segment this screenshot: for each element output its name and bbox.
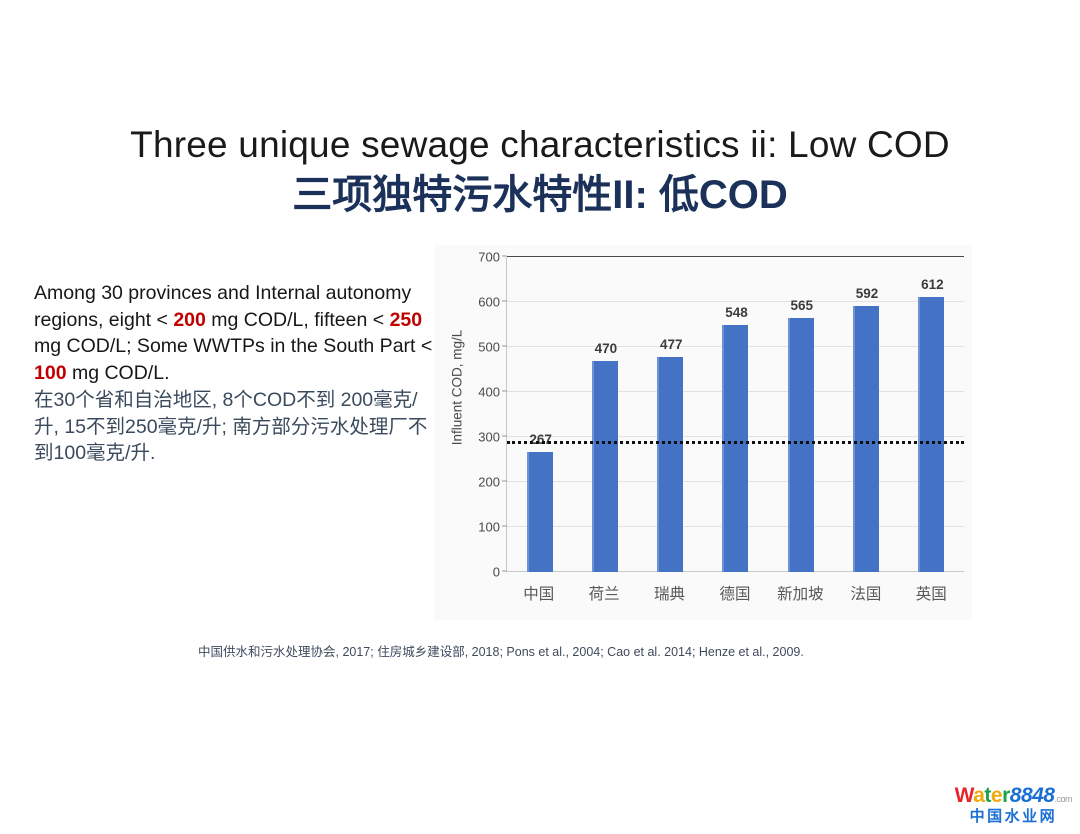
chart-x-category-label: 法国 [833, 582, 898, 604]
page-title-chinese: 三项独特污水特性II: 低COD [0, 170, 1080, 220]
watermark-letter-w: W [955, 784, 974, 807]
chart-y-tick-label: 700 [478, 250, 500, 265]
chart-x-category-label: 中国 [506, 582, 571, 604]
chart-bar-slot: 612 [899, 257, 964, 572]
chart-bar-value-label: 470 [595, 341, 618, 356]
chart-bar[interactable]: 477 [657, 357, 683, 572]
watermark-letter-a: a [973, 784, 984, 807]
chart-plot-area: 0100200300400500600700 26747047754856559… [506, 257, 964, 572]
watermark-letter-r: r [1002, 784, 1010, 807]
chart-bar-value-label: 565 [791, 298, 814, 313]
watermark-tld: .com [1054, 794, 1072, 804]
citation-text: 中国供水和污水处理协会, 2017; 住房城乡建设部, 2018; Pons e… [198, 641, 804, 660]
chart-x-category-label: 英国 [899, 582, 964, 604]
chart-y-tick-label: 300 [478, 430, 500, 445]
body-en-part-2: mg COD/L, fifteen < [206, 309, 390, 331]
chart-reference-line [507, 441, 964, 444]
chart-bar-slot: 565 [768, 257, 833, 572]
chart-x-category-label: 荷兰 [571, 582, 636, 604]
watermark-number: 8848 [1010, 784, 1055, 807]
chart-y-tick-label: 200 [478, 475, 500, 490]
chart-bar[interactable]: 612 [918, 297, 944, 572]
page-title-english: Three unique sewage characteristics ii: … [0, 122, 1080, 168]
body-paragraph-chinese: 在30个省和自治地区, 8个COD不到 200毫克/升, 15不到250毫克/升… [34, 387, 434, 467]
chart-x-category-label: 瑞典 [637, 582, 702, 604]
chart-bar-slot: 470 [572, 257, 637, 572]
chart-plot-wrapper: 0100200300400500600700 26747047754856559… [506, 257, 964, 572]
watermark-letter-e: e [991, 784, 1002, 807]
body-en-highlight-100: 100 [34, 362, 67, 384]
chart-y-tick-label: 500 [478, 340, 500, 355]
chart-bar-value-label: 477 [660, 337, 683, 352]
body-en-part-4: mg COD/L. [67, 362, 170, 384]
chart-bar-value-label: 592 [856, 286, 879, 301]
body-text-block: Among 30 provinces and Internal autonomy… [34, 280, 434, 467]
chart-bar-slot: 267 [507, 257, 572, 572]
chart-y-tick-label: 0 [493, 565, 500, 580]
chart-bar-slot: 548 [703, 257, 768, 572]
chart-bar[interactable]: 267 [527, 452, 553, 572]
chart-bars: 267470477548565592612 [507, 257, 964, 572]
chart-x-axis-labels: 中国荷兰瑞典德国新加坡法国英国 [506, 578, 964, 608]
chart-bar[interactable]: 565 [788, 318, 814, 572]
watermark-subtitle: 中国水业网 [955, 809, 1072, 824]
body-en-part-3: mg COD/L; Some WWTPs in the South Part < [34, 335, 432, 357]
slide-title-block: Three unique sewage characteristics ii: … [0, 122, 1080, 220]
chart-bar-slot: 477 [638, 257, 703, 572]
chart-y-axis-title: Influent COD, mg/L [450, 303, 465, 473]
chart-bar[interactable]: 548 [722, 325, 748, 572]
chart-bar-slot: 592 [833, 257, 898, 572]
chart-bar[interactable]: 592 [853, 306, 879, 572]
body-paragraph-english: Among 30 provinces and Internal autonomy… [34, 280, 434, 386]
chart-y-tick-label: 100 [478, 520, 500, 535]
chart-bar-value-label: 612 [921, 277, 944, 292]
body-en-highlight-250: 250 [390, 309, 423, 331]
watermark-wordmark: Water8848.com [955, 785, 1072, 806]
watermark-logo: Water8848.com 中国水业网 [955, 785, 1072, 824]
influent-cod-bar-chart: Influent COD, mg/L 010020030040050060070… [434, 245, 972, 620]
chart-bar-value-label: 267 [529, 432, 552, 447]
chart-bar[interactable]: 470 [592, 361, 618, 573]
chart-x-category-label: 新加坡 [768, 582, 833, 604]
chart-y-tick-label: 400 [478, 385, 500, 400]
chart-x-category-label: 德国 [702, 582, 767, 604]
chart-bar-value-label: 548 [725, 305, 748, 320]
body-en-highlight-200: 200 [173, 309, 206, 331]
chart-y-tick-label: 600 [478, 295, 500, 310]
